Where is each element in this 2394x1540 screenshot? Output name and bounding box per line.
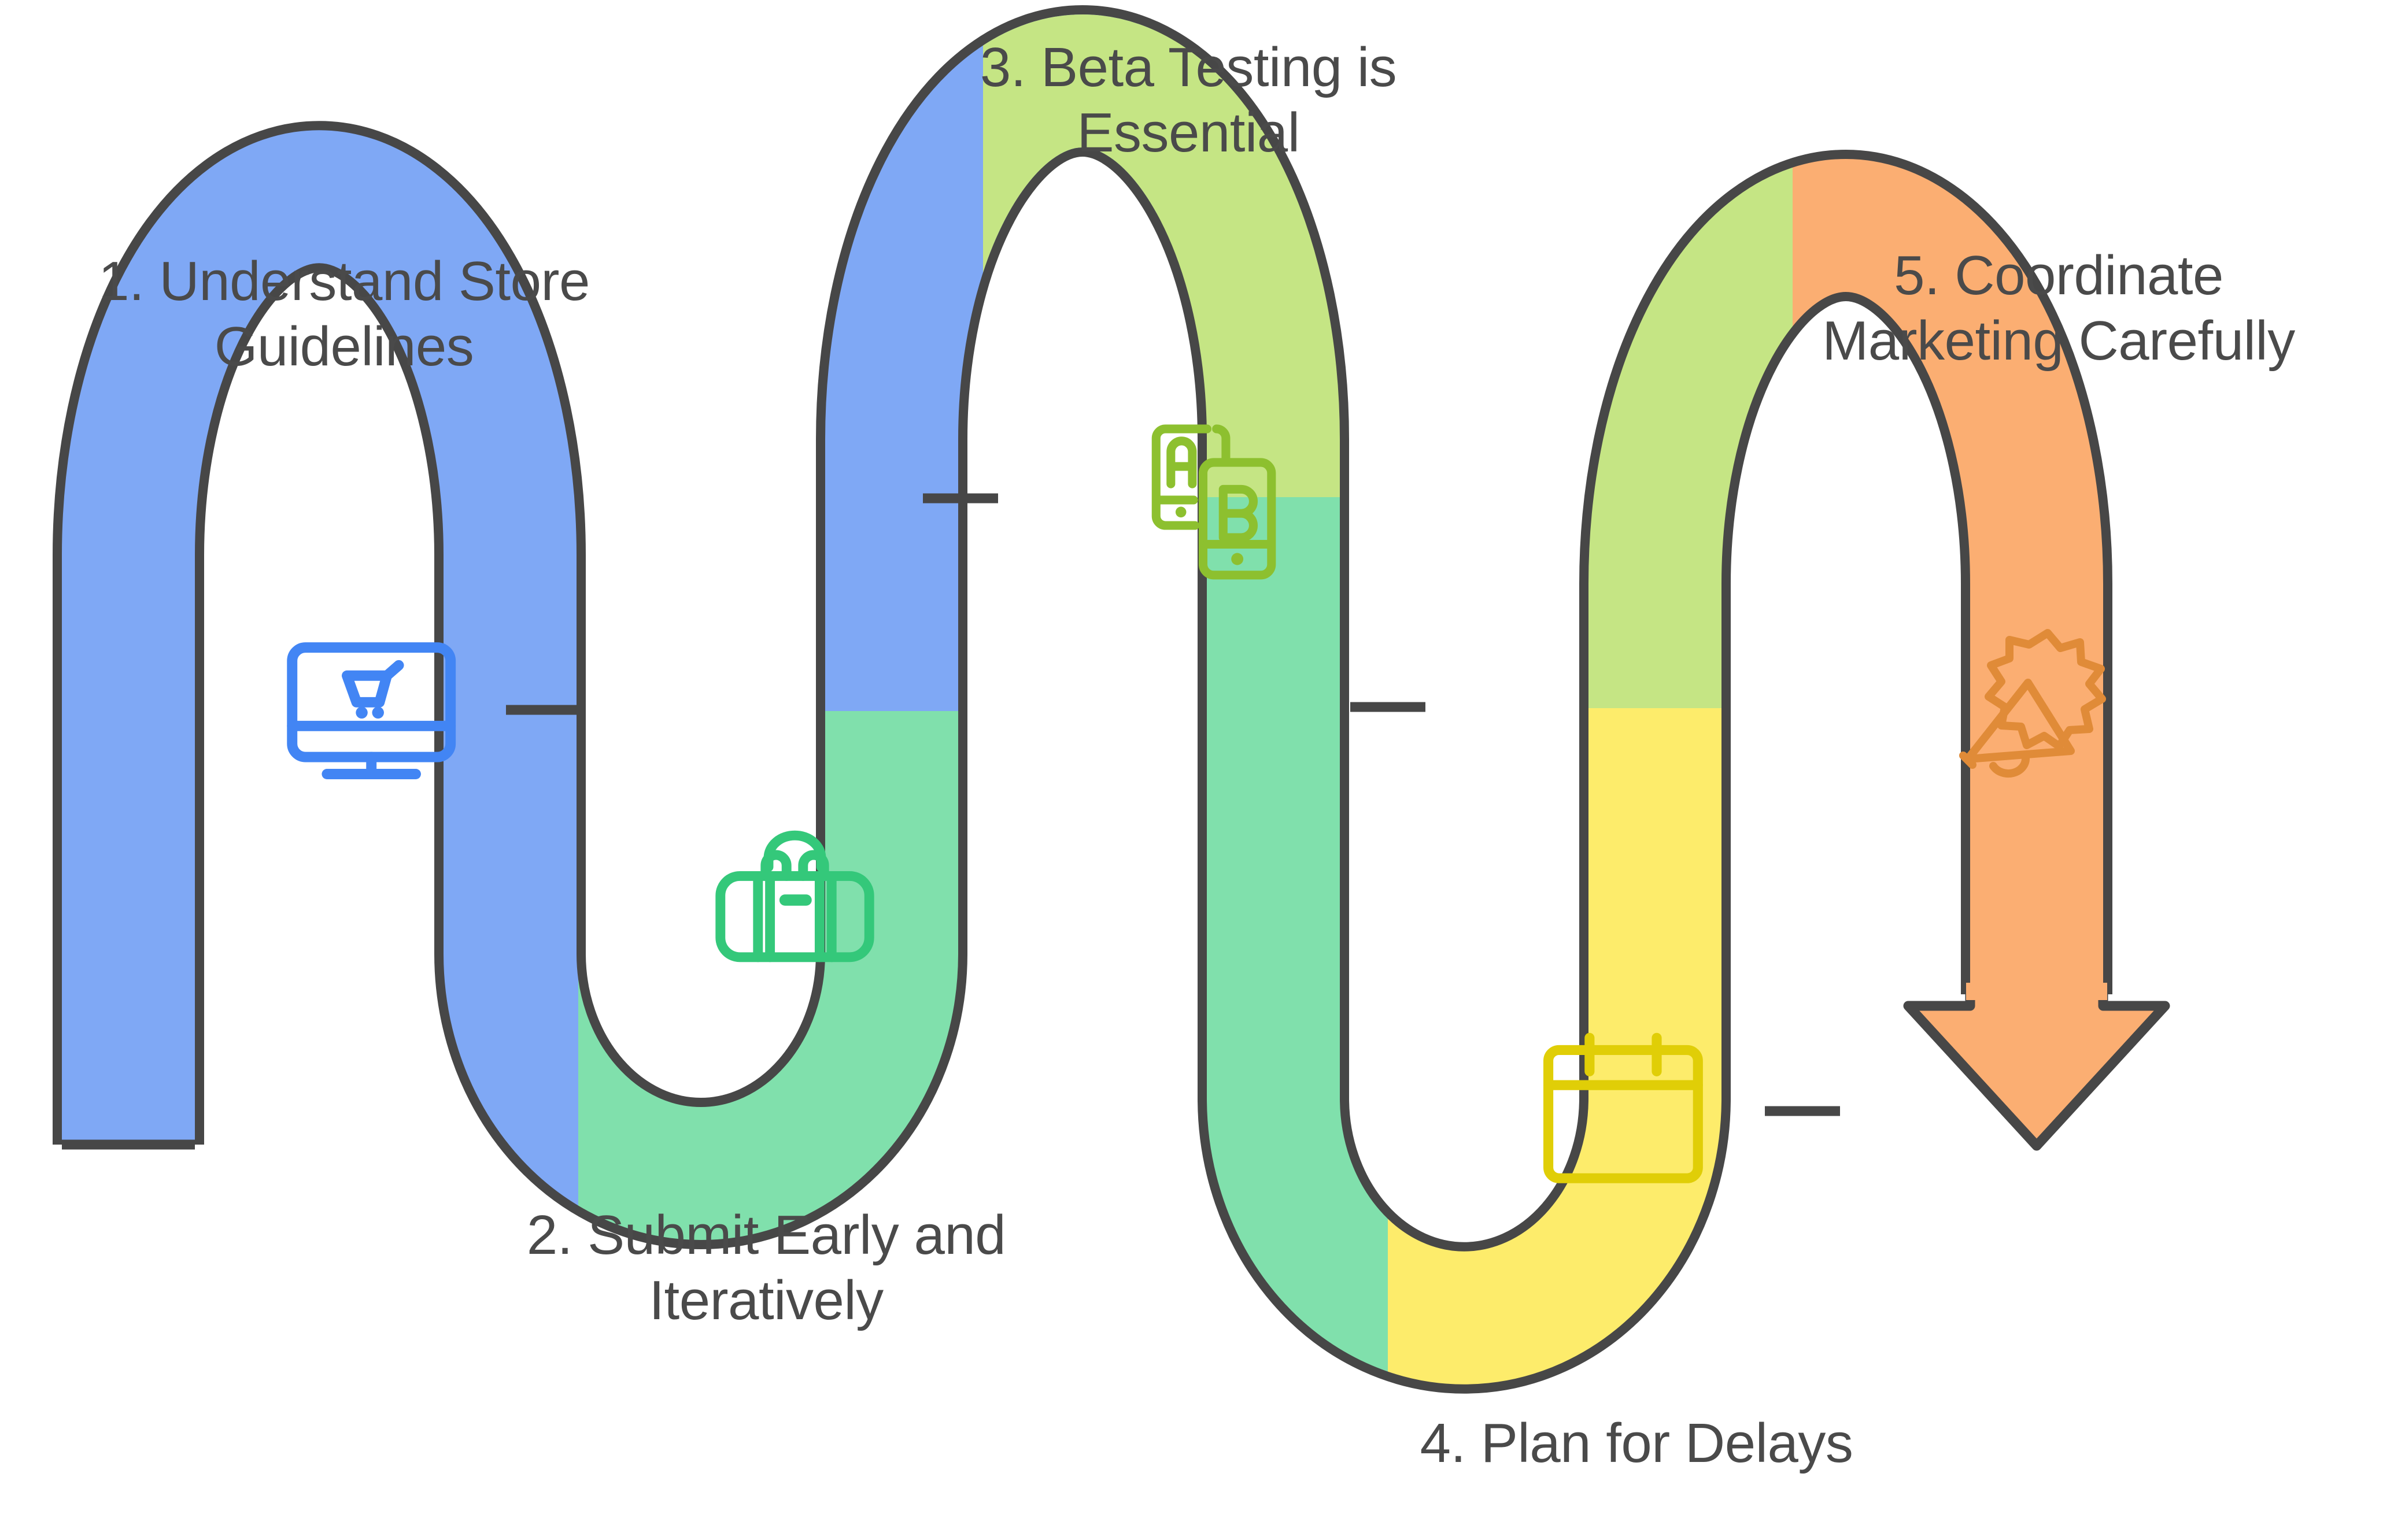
monitor-shopping-cart-icon <box>292 647 450 774</box>
step-label-1: 1. Understand Store Guidelines <box>17 249 671 380</box>
process-ribbon <box>0 0 2394 1540</box>
step-label-2: 2. Submit Early and Iteratively <box>405 1202 1128 1334</box>
step-label-3: 3. Beta Testing is Essential <box>862 35 1515 166</box>
diagram-canvas: 1. Understand Store Guidelines 2. Submit… <box>0 0 2394 1540</box>
flow-end-arrow <box>1908 983 2165 1146</box>
step-label-5: 5. Coordinate Marketing Carefully <box>1723 243 2394 374</box>
step-label-4: 4. Plan for Delays <box>1324 1411 1949 1476</box>
